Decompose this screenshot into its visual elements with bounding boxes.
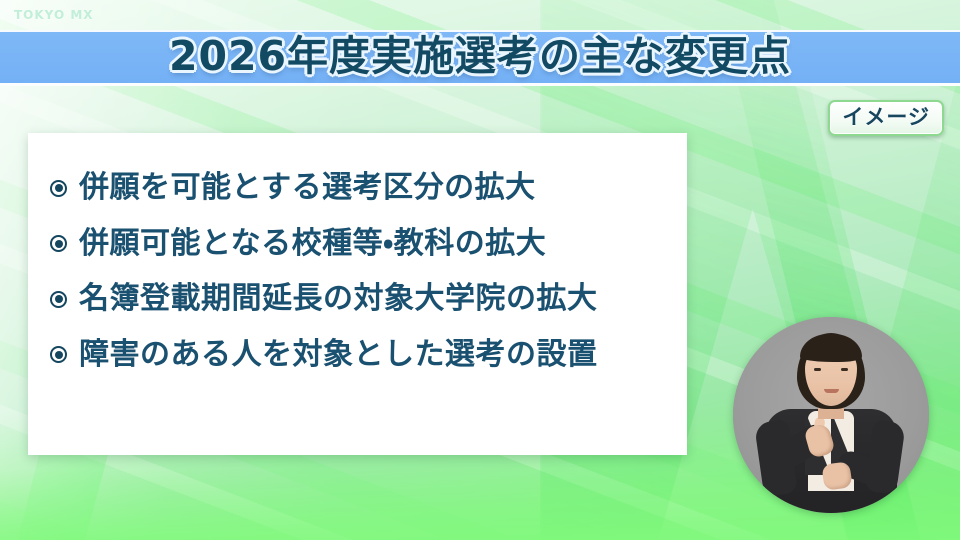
circled-dot-icon (50, 346, 67, 363)
list-item: 併願可能となる校種等・教科の拡大 (46, 227, 665, 262)
list-item: 名簿登載期間延長の対象大学院の拡大 (46, 282, 665, 317)
content-panel: 併願を可能とする選考区分の拡大 併願可能となる校種等・教科の拡大 名簿登載期間延… (28, 133, 687, 455)
circled-dot-icon (50, 180, 67, 197)
interpreter-mouth (824, 389, 839, 393)
interpreter-eye-right (841, 368, 848, 371)
image-disclaimer-badge-label: イメージ (842, 105, 930, 129)
channel-watermark: TOKYO MX (14, 8, 94, 22)
list-item-label: 名簿登載期間延長の対象大学院の拡大 (79, 282, 598, 317)
bullet-list: 併願を可能とする選考区分の拡大 併願可能となる校種等・教科の拡大 名簿登載期間延… (28, 133, 687, 455)
circled-dot-icon (50, 235, 67, 252)
title-band: 2026年度実施選考の主な変更点 (0, 30, 960, 86)
list-item-label: 併願可能となる校種等・教科の拡大 (79, 227, 546, 262)
sign-language-interpreter-inset (733, 317, 929, 513)
list-item: 障害のある人を対象とした選考の設置 (46, 338, 665, 373)
page-title: 2026年度実施選考の主な変更点 (169, 36, 791, 77)
list-item: 併願を可能とする選考区分の拡大 (46, 171, 665, 206)
interpreter-eye-left (814, 368, 821, 371)
image-disclaimer-badge: イメージ (828, 100, 944, 136)
list-item-label: 併願を可能とする選考区分の拡大 (79, 171, 536, 206)
list-item-label: 障害のある人を対象とした選考の設置 (79, 338, 598, 373)
circled-dot-icon (50, 291, 67, 308)
broadcast-graphic-screen: TOKYO MX 2026年度実施選考の主な変更点 イメージ 併願を可能とする選… (0, 0, 960, 540)
